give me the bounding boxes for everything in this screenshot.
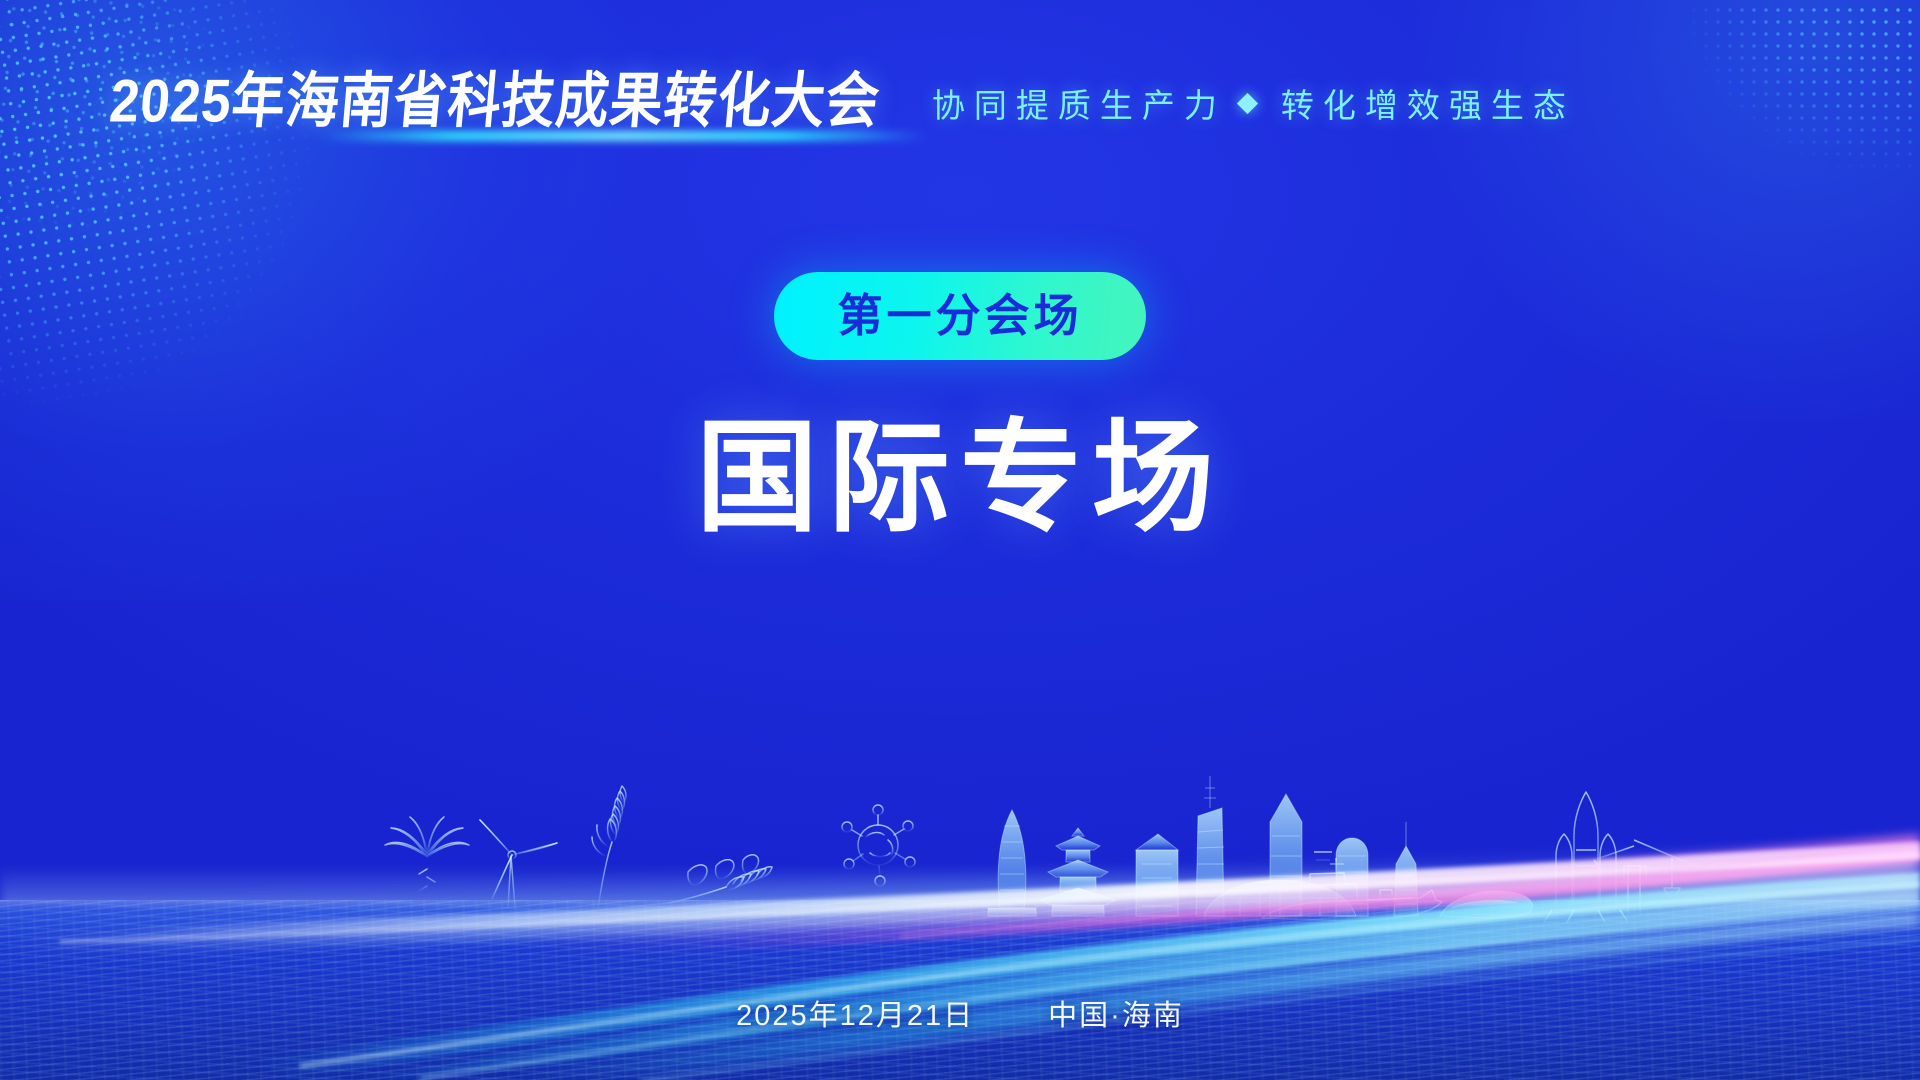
conference-slogan: 协同提质生产力 转化增效强生态 [932,79,1575,127]
title-underglow-bar [318,131,928,141]
conference-main-title: 2025年海南省科技成果转化大会 [107,71,882,131]
session-badge: 第一分会场 [774,272,1146,360]
banner-footer: 2025年12月21日 中国·海南 [0,992,1920,1034]
event-location: 中国·海南 [1048,992,1184,1034]
slogan-phrase-right: 转化增效强生态 [1281,79,1575,127]
title-wrap: 2025年海南省科技成果转化大会 [110,75,880,128]
event-date: 2025年12月21日 [736,992,974,1034]
slogan-phrase-left: 协同提质生产力 [932,79,1226,127]
ocean-texture [0,900,1920,1080]
session-headline: 国际专场 [696,414,1224,543]
ocean-surface [0,900,1920,1080]
session-badge-label: 第一分会场 [837,293,1082,338]
conference-banner: 2025年海南省科技成果转化大会 协同提质生产力 转化增效强生态 第一分会场 国… [0,0,1920,1080]
banner-header: 2025年海南省科技成果转化大会 协同提质生产力 转化增效强生态 [0,62,1920,140]
diamond-separator-icon [1237,92,1258,113]
